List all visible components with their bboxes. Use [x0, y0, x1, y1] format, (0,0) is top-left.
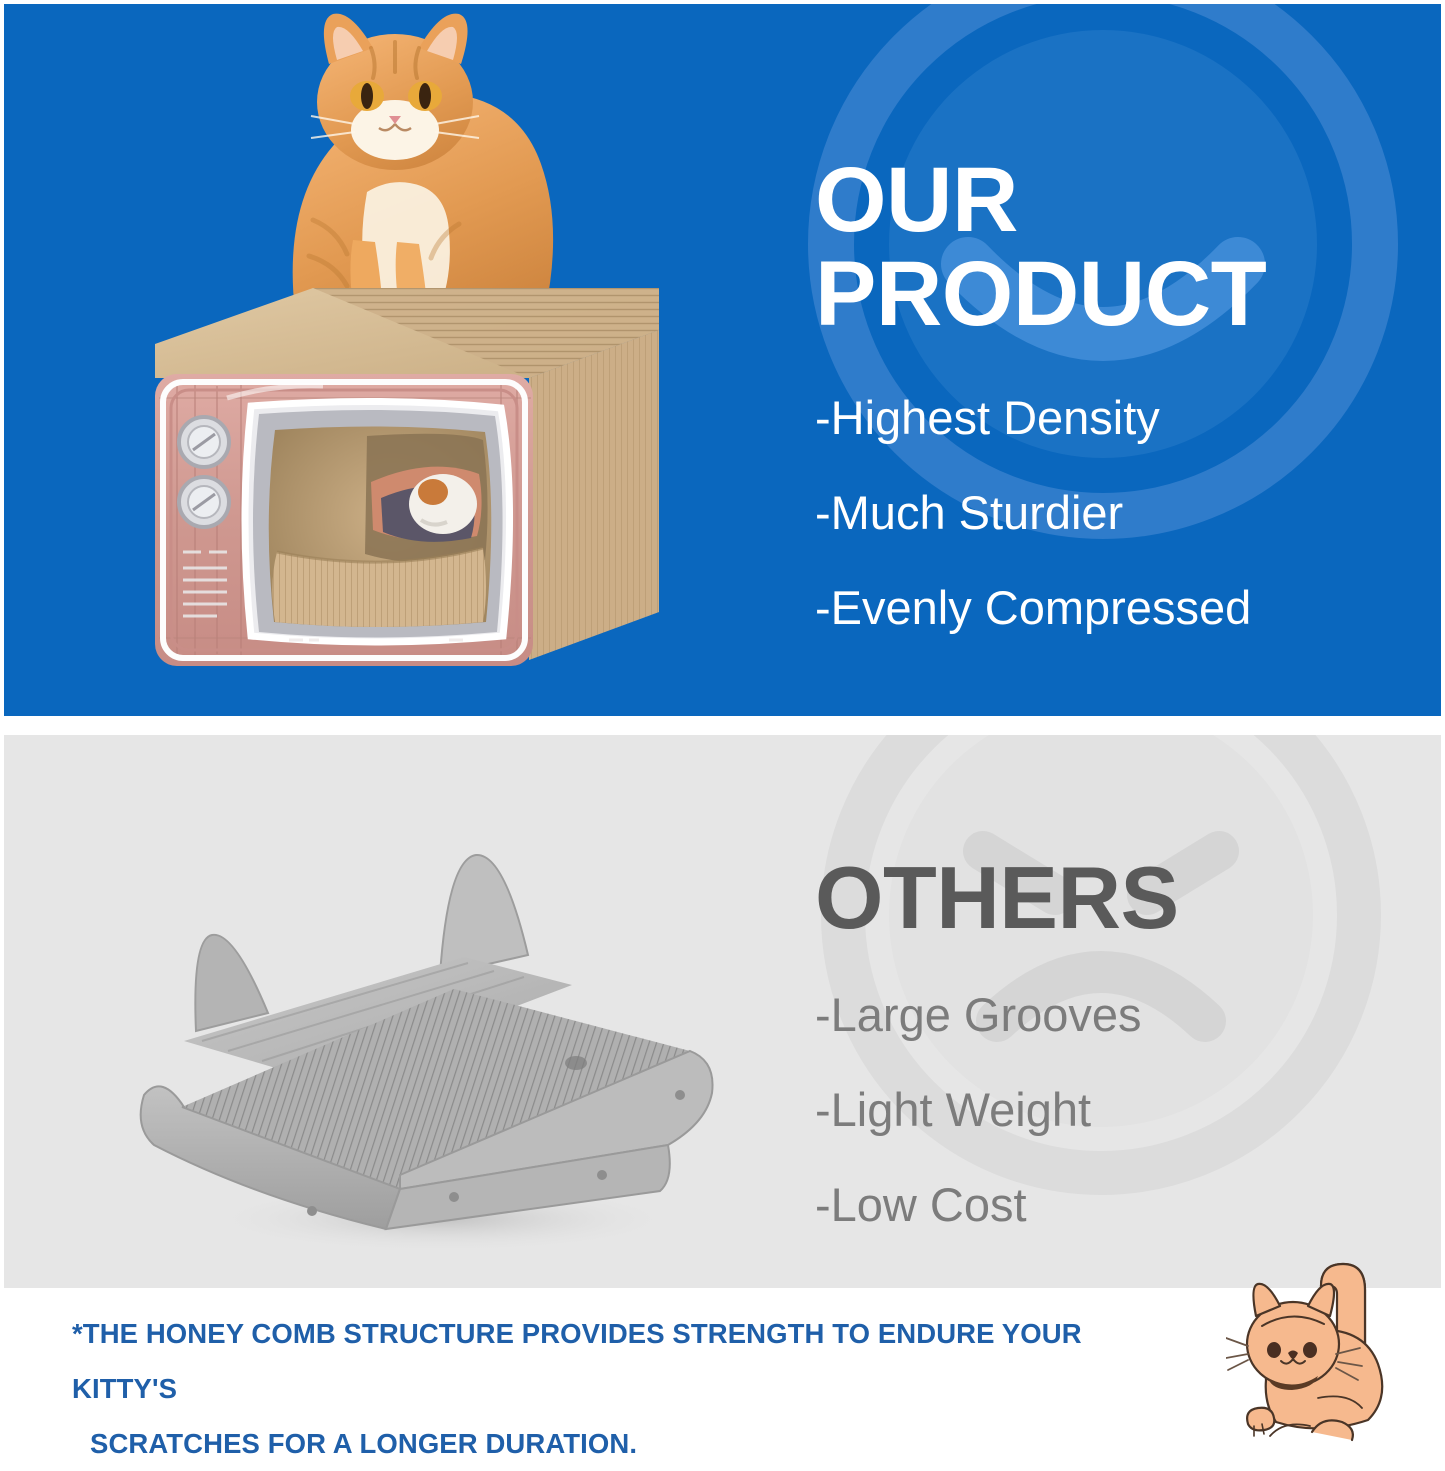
others-bullet-list: -Large Grooves -Light Weight -Low Cost — [815, 991, 1435, 1228]
others-panel: OTHERS -Large Grooves -Light Weight -Low… — [4, 735, 1441, 1288]
footer-note-line1: *THE HONEY COMB STRUCTURE PROVIDES STREN… — [72, 1306, 1182, 1416]
tv-cardboard-scratcher — [155, 288, 659, 666]
our-product-bullet-list: -Highest Density -Much Sturdier -Evenly … — [815, 394, 1435, 631]
others-bullet-2: -Light Weight — [815, 1086, 1435, 1133]
our-product-title-line2: PRODUCT — [815, 243, 1266, 345]
others-bullet-3: -Low Cost — [815, 1181, 1435, 1228]
our-product-title-line1: OUR — [815, 149, 1018, 251]
our-product-bullet-2: -Much Sturdier — [815, 489, 1435, 536]
others-bullet-1: -Large Grooves — [815, 991, 1435, 1038]
others-text-block: OTHERS -Large Grooves -Light Weight -Low… — [815, 853, 1435, 1276]
footer-note-line2: SCRATCHES FOR A LONGER DURATION. — [72, 1416, 1182, 1471]
cartoon-cat-icon — [1226, 1258, 1442, 1445]
our-product-bullet-1: -Highest Density — [815, 394, 1435, 441]
our-product-panel: OURPRODUCT -Highest Density -Much Sturdi… — [4, 4, 1441, 716]
our-product-photo — [99, 12, 699, 712]
others-title: OTHERS — [815, 853, 1435, 943]
our-product-title: OURPRODUCT — [815, 154, 1435, 342]
footer-note: *THE HONEY COMB STRUCTURE PROVIDES STREN… — [72, 1306, 1182, 1471]
others-product-photo — [124, 845, 744, 1265]
our-product-bullet-3: -Evenly Compressed — [815, 584, 1435, 631]
our-product-text-block: OURPRODUCT -Highest Density -Much Sturdi… — [815, 154, 1435, 679]
